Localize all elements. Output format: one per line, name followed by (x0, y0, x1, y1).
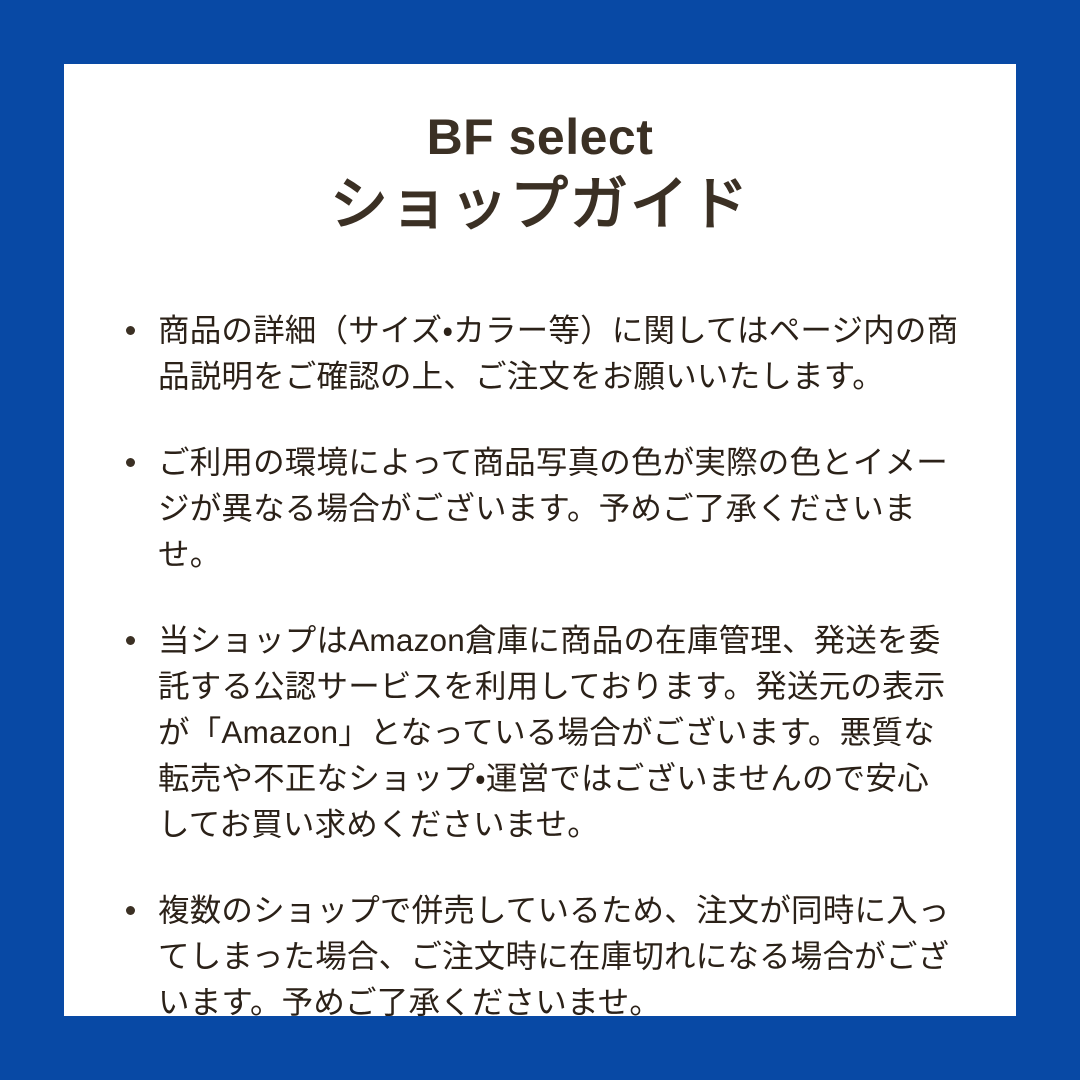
list-item: 複数のショップで併売しているため、注文が同時に入ってしまった場合、ご注文時に在庫… (114, 887, 959, 1025)
page-title-subject: ショップガイド (64, 168, 1016, 242)
list-item-text: 当ショップはAmazon倉庫に商品の在庫管理、発送を委託する公認サービスを利用し… (158, 617, 959, 847)
list-item: 商品の詳細（サイズ・カラー等）に関してはページ内の商品説明をご確認の上、ご注文を… (114, 307, 959, 399)
list-item-text: 複数のショップで併売しているため、注文が同時に入ってしまった場合、ご注文時に在庫… (158, 887, 959, 1025)
list-item-text: ご利用の環境によって商品写真の色が実際の色とイメージが異なる場合がございます。予… (158, 439, 959, 577)
bullet-dot-icon (126, 636, 135, 645)
bullet-dot-icon (126, 906, 135, 915)
guide-card: BF select ショップガイド 商品の詳細（サイズ・カラー等）に関してはペー… (64, 64, 1016, 1016)
list-item: 当ショップはAmazon倉庫に商品の在庫管理、発送を委託する公認サービスを利用し… (114, 617, 959, 847)
poster-frame: BF select ショップガイド 商品の詳細（サイズ・カラー等）に関してはペー… (0, 0, 1080, 1080)
list-item: ご利用の環境によって商品写真の色が実際の色とイメージが異なる場合がございます。予… (114, 439, 959, 577)
page-title-brand: BF select (64, 106, 1016, 168)
bullet-dot-icon (126, 458, 135, 467)
bullet-dot-icon (126, 326, 135, 335)
page-title: BF select ショップガイド (64, 106, 1016, 242)
shop-guide-list: 商品の詳細（サイズ・カラー等）に関してはページ内の商品説明をご確認の上、ご注文を… (114, 307, 959, 1025)
list-item-text: 商品の詳細（サイズ・カラー等）に関してはページ内の商品説明をご確認の上、ご注文を… (158, 307, 959, 399)
